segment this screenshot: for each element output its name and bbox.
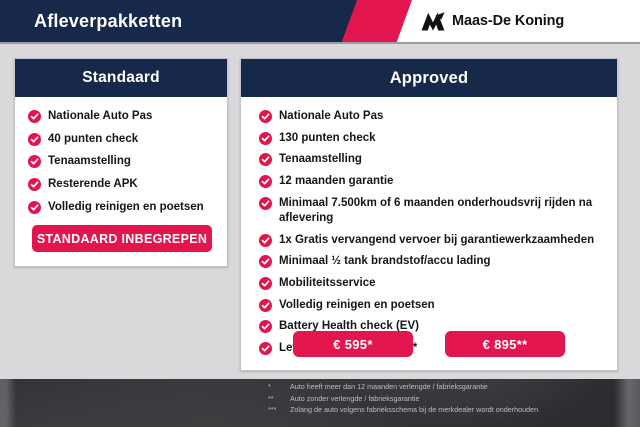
standaard-inbegrepen-button[interactable]: STANDAARD INBEGREPEN [32, 225, 212, 252]
header-divider [0, 42, 640, 44]
feature-label: Tenaamstelling [279, 152, 362, 167]
maas-de-koning-m-logo-icon [421, 12, 445, 31]
page-title: Afleverpakketten [34, 0, 182, 42]
feature-item: Resterende APK [28, 177, 217, 192]
feature-label: 130 punten check [279, 131, 376, 146]
check-circle-icon [259, 197, 272, 210]
feature-label: Nationale Auto Pas [279, 109, 383, 124]
feature-label: Minimaal 7.500km of 6 maanden onderhouds… [279, 196, 605, 226]
check-circle-icon [28, 201, 41, 214]
feature-item: 1x Gratis vervangend vervoer bij garanti… [259, 233, 605, 248]
feature-item: Volledig reinigen en poetsen [28, 200, 217, 215]
feature-item: Nationale Auto Pas [28, 109, 217, 124]
feature-label: Minimaal ½ tank brandstof/accu lading [279, 254, 491, 269]
card-approved-title: Approved [241, 59, 617, 97]
feature-label: Volledig reinigen en poetsen [279, 298, 435, 313]
feature-label: Nationale Auto Pas [48, 109, 152, 124]
check-circle-icon [259, 110, 272, 123]
footnote-row: ***Zolang de auto volgens fabrieksschema… [268, 404, 538, 416]
check-circle-icon [259, 255, 272, 268]
feature-item: Volledig reinigen en poetsen [259, 298, 605, 313]
footnote-text: Zolang de auto volgens fabrieksschema bi… [290, 404, 538, 416]
page-header: Afleverpakketten Maas-De Koning [0, 0, 640, 42]
footnote-text: Auto heeft meer dan 12 maanden verlengde… [290, 381, 488, 393]
check-circle-icon [28, 178, 41, 191]
price-button-row: € 595*€ 895** [241, 331, 617, 357]
feature-label: Resterende APK [48, 177, 138, 192]
check-circle-icon [259, 153, 272, 166]
feature-list-standaard: Nationale Auto Pas40 punten checkTenaams… [15, 109, 227, 215]
feature-item: Tenaamstelling [259, 152, 605, 167]
feature-label: Mobiliteitsservice [279, 276, 376, 291]
check-circle-icon [259, 132, 272, 145]
feature-item: 40 punten check [28, 132, 217, 147]
feature-item: Nationale Auto Pas [259, 109, 605, 124]
brand-logo: Maas-De Koning [421, 0, 564, 42]
footnote-marker: * [268, 381, 290, 393]
check-circle-icon [259, 277, 272, 290]
footnote-text: Auto zonder verlengde / fabrieksgarantie [290, 393, 419, 405]
feature-item: 12 maanden garantie [259, 174, 605, 189]
check-circle-icon [259, 299, 272, 312]
footnote-marker: *** [268, 404, 290, 416]
check-circle-icon [259, 175, 272, 188]
page-root: Afleverpakketten Maas-De Koning Standaar… [0, 0, 640, 427]
price-button-1[interactable]: € 595* [293, 331, 413, 357]
feature-item: Mobiliteitsservice [259, 276, 605, 291]
card-standaard-body: Nationale Auto Pas40 punten checkTenaams… [15, 97, 227, 215]
card-approved-body: Nationale Auto Pas130 punten checkTenaam… [241, 97, 617, 356]
check-circle-icon [28, 155, 41, 168]
feature-list-approved: Nationale Auto Pas130 punten checkTenaam… [241, 109, 617, 356]
check-circle-icon [28, 133, 41, 146]
brand-name: Maas-De Koning [452, 13, 564, 29]
feature-label: 12 maanden garantie [279, 174, 393, 189]
feature-item: Tenaamstelling [28, 154, 217, 169]
feature-label: 1x Gratis vervangend vervoer bij garanti… [279, 233, 594, 248]
check-circle-icon [28, 110, 41, 123]
feature-label: Volledig reinigen en poetsen [48, 200, 204, 215]
feature-item: Minimaal 7.500km of 6 maanden onderhouds… [259, 196, 605, 226]
footnotes: *Auto heeft meer dan 12 maanden verlengd… [268, 381, 538, 416]
feature-label: Tenaamstelling [48, 154, 131, 169]
feature-item: 130 punten check [259, 131, 605, 146]
check-circle-icon [259, 234, 272, 247]
card-standaard-title: Standaard [15, 59, 227, 97]
feature-label: 40 punten check [48, 132, 138, 147]
footnote-row: *Auto heeft meer dan 12 maanden verlengd… [268, 381, 538, 393]
feature-item: Minimaal ½ tank brandstof/accu lading [259, 254, 605, 269]
footnote-row: **Auto zonder verlengde / fabrieksgarant… [268, 393, 538, 405]
price-button-2[interactable]: € 895** [445, 331, 565, 357]
card-approved: Approved Nationale Auto Pas130 punten ch… [240, 58, 618, 371]
card-standaard: Standaard Nationale Auto Pas40 punten ch… [14, 58, 228, 267]
footnote-marker: ** [268, 393, 290, 405]
